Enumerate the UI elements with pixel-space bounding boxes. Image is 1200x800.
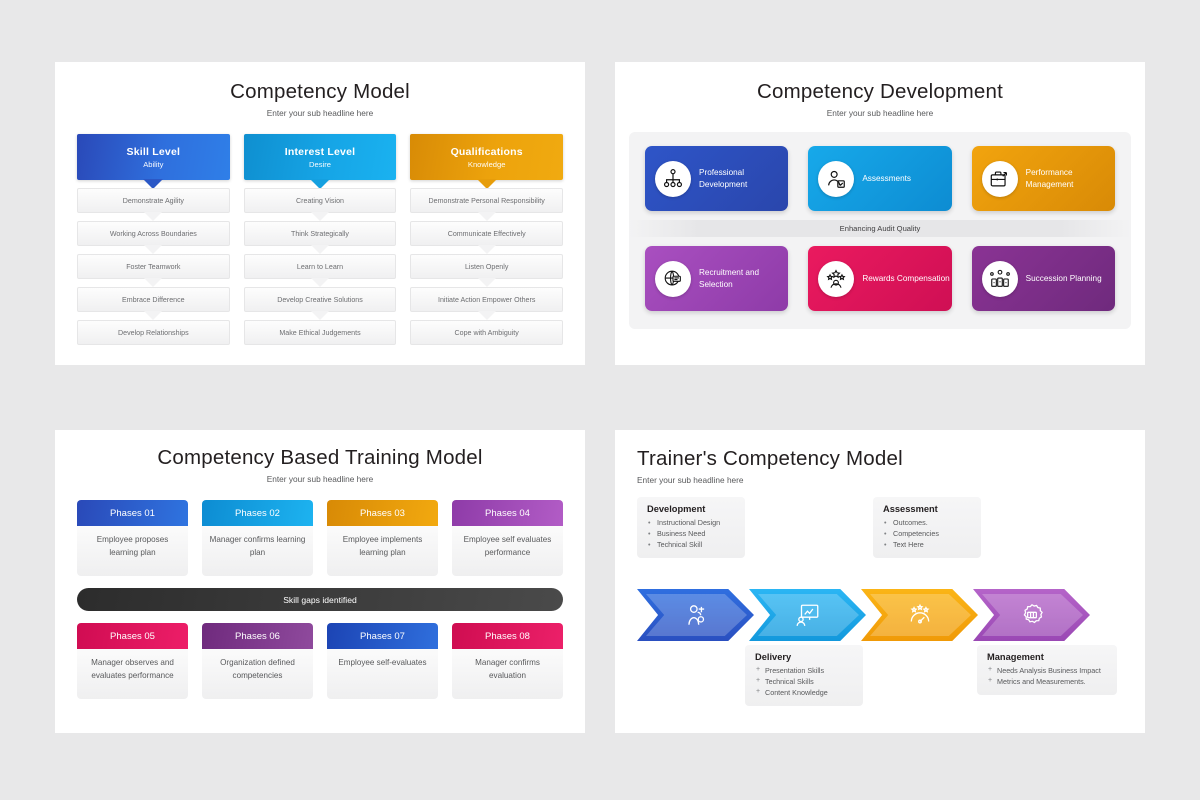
list-item[interactable]: Think Strategically — [244, 221, 397, 246]
phase-card-07[interactable]: Phases 07 Employee self-evaluates — [327, 623, 438, 699]
list-item[interactable]: Develop Relationships — [77, 320, 230, 345]
info-box-heading: Delivery — [755, 652, 853, 662]
phase-body: Employee self-evaluates — [327, 649, 438, 699]
phase-card-05[interactable]: Phases 05 Manager observes and evaluates… — [77, 623, 188, 699]
divider-label: Enhancing Audit Quality — [840, 224, 921, 233]
column-header-skill-level[interactable]: Skill Level Ability — [77, 134, 230, 180]
phase-card-06[interactable]: Phases 06 Organization defined competenc… — [202, 623, 313, 699]
card-label: Recruitment and Selection — [699, 267, 788, 289]
divider-enhancing-audit-quality: Enhancing Audit Quality — [629, 220, 1131, 237]
column-title: Skill Level — [127, 146, 181, 158]
card-professional-development[interactable]: Professional Development — [645, 146, 788, 211]
card-recruitment-and-selection[interactable]: Recruitment and Selection — [645, 246, 788, 311]
list-item[interactable]: Cope with Ambiguity — [410, 320, 563, 345]
card-label: Assessments — [862, 173, 911, 184]
slide-competency-development[interactable]: Competency Development Enter your sub he… — [615, 62, 1145, 365]
page-title: Competency Based Training Model — [55, 446, 585, 470]
card-label: Performance Management — [1026, 167, 1115, 189]
list-item: Presentation Skills — [755, 665, 853, 676]
chevron-step-1[interactable] — [637, 589, 754, 641]
phase-body: Organization defined competencies — [202, 649, 313, 699]
phase-header: Phases 08 — [452, 623, 563, 649]
person-checklist-icon — [818, 161, 854, 197]
recruitment-globe-icon — [655, 261, 691, 297]
column-header-interest-level[interactable]: Interest Level Desire — [244, 134, 397, 180]
gear-badge-icon — [1019, 602, 1045, 628]
competency-column-skill-level: Skill Level Ability Demonstrate Agility … — [77, 134, 230, 345]
development-top-row: Professional Development Assessments — [645, 146, 1115, 211]
list-item: Business Need — [647, 528, 735, 539]
competency-column-qualifications: Qualifications Knowledge Demonstrate Per… — [410, 134, 563, 345]
column-header-qualifications[interactable]: Qualifications Knowledge — [410, 134, 563, 180]
development-panel: Professional Development Assessments — [629, 132, 1131, 329]
chevron-step-2[interactable] — [749, 589, 866, 641]
page-subtitle: Enter your sub headline here — [55, 108, 585, 118]
info-box-list: Instructional Design Business Need Techn… — [647, 517, 735, 550]
list-item[interactable]: Initiate Action Empower Others — [410, 287, 563, 312]
presentation-board-icon — [795, 602, 821, 628]
phase-card-02[interactable]: Phases 02 Manager confirms learning plan — [202, 500, 313, 576]
card-succession-planning[interactable]: Succession Planning — [972, 246, 1115, 311]
info-box-development[interactable]: Development Instructional Design Busines… — [637, 497, 745, 558]
star-reward-icon — [818, 261, 854, 297]
card-label: Rewards Compensation — [862, 273, 949, 284]
phase-header: Phases 07 — [327, 623, 438, 649]
info-box-assessment[interactable]: Assessment Outcomes. Competencies Text H… — [873, 497, 981, 558]
competency-column-interest-level: Interest Level Desire Creating Vision Th… — [244, 134, 397, 345]
slide-1-header: Competency Model Enter your sub headline… — [55, 62, 585, 118]
chevron-step-4[interactable] — [973, 589, 1090, 641]
page-title: Trainer's Competency Model — [637, 447, 1145, 471]
list-item: Text Here — [883, 539, 971, 550]
succession-people-icon — [982, 261, 1018, 297]
list-item[interactable]: Demonstrate Personal Responsibility — [410, 188, 563, 213]
list-item[interactable]: Creating Vision — [244, 188, 397, 213]
page-title: Competency Development — [615, 80, 1145, 104]
page-subtitle: Enter your sub headline here — [55, 474, 585, 484]
info-box-list: Needs Analysis Business Impact Metrics a… — [987, 665, 1107, 687]
list-item: Technical Skills — [755, 676, 853, 687]
card-assessments[interactable]: Assessments — [808, 146, 951, 211]
list-item[interactable]: Working Across Boundaries — [77, 221, 230, 246]
list-item: Metrics and Measurements. — [987, 676, 1107, 687]
list-item[interactable]: Develop Creative Solutions — [244, 287, 397, 312]
slide-gallery: Competency Model Enter your sub headline… — [0, 0, 1200, 800]
phase-header: Phases 04 — [452, 500, 563, 526]
org-chart-people-icon — [655, 161, 691, 197]
phase-body: Manager observes and evaluates performan… — [77, 649, 188, 699]
rating-gauge-stars-icon — [907, 602, 933, 628]
column-subtitle: Desire — [309, 160, 331, 169]
list-item: Content Knowledge — [755, 687, 853, 698]
column-subtitle: Knowledge — [468, 160, 506, 169]
phase-body: Employee proposes learning plan — [77, 526, 188, 576]
phase-header: Phases 01 — [77, 500, 188, 526]
card-performance-management[interactable]: Performance Management — [972, 146, 1115, 211]
development-bottom-row: Recruitment and Selection Rewards Compen… — [645, 246, 1115, 311]
phases-bottom-row: Phases 05 Manager observes and evaluates… — [55, 623, 585, 699]
list-item[interactable]: Embrace Difference — [77, 287, 230, 312]
phase-body: Manager confirms learning plan — [202, 526, 313, 576]
list-item: Competencies — [883, 528, 971, 539]
info-box-heading: Assessment — [883, 504, 971, 514]
info-box-heading: Development — [647, 504, 735, 514]
slide-3-header: Competency Based Training Model Enter yo… — [55, 430, 585, 484]
phase-card-03[interactable]: Phases 03 Employee implements learning p… — [327, 500, 438, 576]
list-item: Instructional Design — [647, 517, 735, 528]
info-box-list: Outcomes. Competencies Text Here — [883, 517, 971, 550]
chevron-process-row — [637, 589, 1085, 641]
page-subtitle: Enter your sub headline here — [615, 108, 1145, 118]
list-item[interactable]: Listen Openly — [410, 254, 563, 279]
card-label: Succession Planning — [1026, 273, 1102, 284]
list-item[interactable]: Foster Teamwork — [77, 254, 230, 279]
list-item[interactable]: Communicate Effectively — [410, 221, 563, 246]
column-title: Interest Level — [285, 146, 356, 158]
phase-body: Manager confirms evaluation — [452, 649, 563, 699]
list-item: Technical Skill — [647, 539, 735, 550]
trainer-diagram: Development Instructional Design Busines… — [615, 497, 1145, 729]
skill-gaps-banner[interactable]: Skill gaps identified — [77, 588, 563, 611]
phase-header: Phases 05 — [77, 623, 188, 649]
list-item: Needs Analysis Business Impact — [987, 665, 1107, 676]
list-item[interactable]: Make Ethical Judgements — [244, 320, 397, 345]
slide-competency-model[interactable]: Competency Model Enter your sub headline… — [55, 62, 585, 365]
briefcase-chart-icon — [982, 161, 1018, 197]
slide-2-header: Competency Development Enter your sub he… — [615, 62, 1145, 118]
card-label: Professional Development — [699, 167, 788, 189]
column-title: Qualifications — [451, 146, 523, 158]
phase-body: Employee implements learning plan — [327, 526, 438, 576]
phase-card-04[interactable]: Phases 04 Employee self evaluates perfor… — [452, 500, 563, 576]
phase-card-08[interactable]: Phases 08 Manager confirms evaluation — [452, 623, 563, 699]
chevron-step-3[interactable] — [861, 589, 978, 641]
info-box-delivery[interactable]: Delivery Presentation Skills Technical S… — [745, 645, 863, 706]
slide-competency-based-training-model[interactable]: Competency Based Training Model Enter yo… — [55, 430, 585, 733]
slide-4-header: Trainer's Competency Model Enter your su… — [615, 430, 1145, 485]
phase-header: Phases 06 — [202, 623, 313, 649]
phases-top-row: Phases 01 Employee proposes learning pla… — [55, 500, 585, 576]
phase-header: Phases 03 — [327, 500, 438, 526]
slide-trainers-competency-model[interactable]: Trainer's Competency Model Enter your su… — [615, 430, 1145, 733]
competency-columns: Skill Level Ability Demonstrate Agility … — [55, 118, 585, 345]
info-box-heading: Management — [987, 652, 1107, 662]
trainer-person-icon — [683, 602, 709, 628]
page-title: Competency Model — [55, 80, 585, 104]
page-subtitle: Enter your sub headline here — [637, 475, 1145, 485]
phase-body: Employee self evaluates performance — [452, 526, 563, 576]
column-subtitle: Ability — [143, 160, 163, 169]
list-item[interactable]: Learn to Learn — [244, 254, 397, 279]
list-item[interactable]: Demonstrate Agility — [77, 188, 230, 213]
phase-card-01[interactable]: Phases 01 Employee proposes learning pla… — [77, 500, 188, 576]
list-item: Outcomes. — [883, 517, 971, 528]
phase-header: Phases 02 — [202, 500, 313, 526]
card-rewards-compensation[interactable]: Rewards Compensation — [808, 246, 951, 311]
info-box-list: Presentation Skills Technical Skills Con… — [755, 665, 853, 698]
info-box-management[interactable]: Management Needs Analysis Business Impac… — [977, 645, 1117, 695]
